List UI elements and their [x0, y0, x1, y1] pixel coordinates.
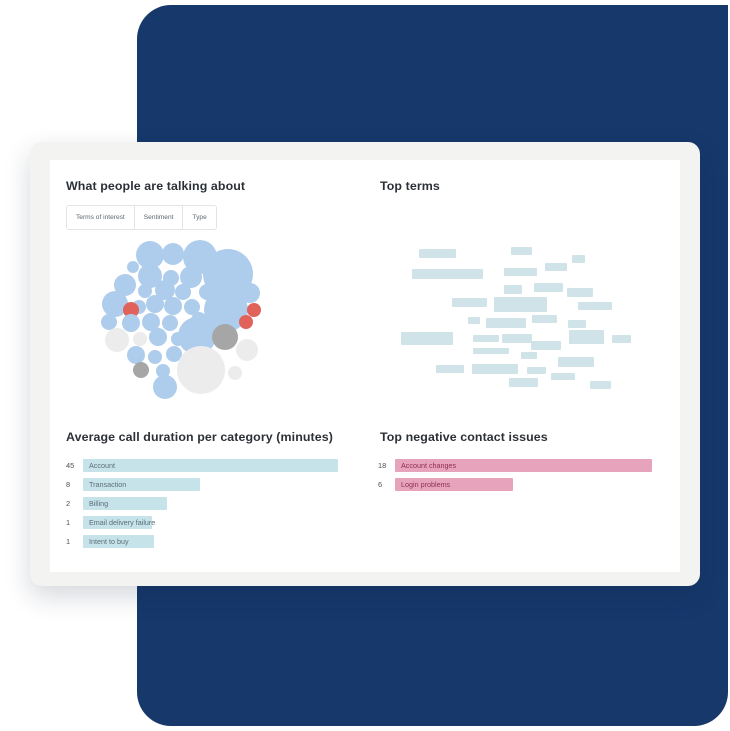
- bar-track: Intent to buy: [83, 535, 338, 548]
- bar-track: Account changes: [395, 459, 652, 472]
- bar-label: Transaction: [89, 478, 126, 491]
- term-block[interactable]: [509, 378, 538, 387]
- term-block[interactable]: [551, 373, 575, 380]
- bar-row: 18Account changes: [378, 459, 652, 472]
- tab-sentiment[interactable]: Sentiment: [135, 206, 184, 229]
- term-block[interactable]: [578, 302, 612, 310]
- bubble[interactable]: [212, 324, 238, 350]
- bubble-chart[interactable]: [95, 240, 275, 400]
- term-block[interactable]: [502, 334, 532, 343]
- term-block[interactable]: [612, 335, 631, 343]
- term-block[interactable]: [545, 263, 567, 271]
- term-block[interactable]: [494, 297, 547, 312]
- bar-value: 6: [378, 478, 395, 491]
- bubble[interactable]: [133, 362, 149, 378]
- term-block[interactable]: [412, 269, 483, 279]
- term-block[interactable]: [568, 320, 586, 328]
- bubble[interactable]: [105, 328, 129, 352]
- bar-row: 2Billing: [66, 497, 338, 510]
- bar-label: Billing: [89, 497, 108, 510]
- term-block[interactable]: [521, 352, 537, 359]
- term-block[interactable]: [572, 255, 585, 263]
- terms-filter-tabs[interactable]: Terms of interest Sentiment Type: [66, 205, 217, 230]
- term-block[interactable]: [436, 365, 464, 373]
- bar-fill: [83, 459, 338, 472]
- bar-value: 1: [66, 535, 83, 548]
- term-block[interactable]: [472, 364, 518, 374]
- bar-row: 8Transaction: [66, 478, 338, 491]
- term-block[interactable]: [486, 318, 526, 328]
- bubble[interactable]: [133, 332, 147, 346]
- bar-track: Login problems: [395, 478, 652, 491]
- bar-value: 18: [378, 459, 395, 472]
- bubble[interactable]: [164, 297, 182, 315]
- bar-track: Billing: [83, 497, 338, 510]
- bubble[interactable]: [239, 315, 253, 329]
- bar-track: Email delivery failure: [83, 516, 338, 529]
- term-block[interactable]: [527, 367, 546, 374]
- bar-row: 6Login problems: [378, 478, 652, 491]
- bar-label: Account: [89, 459, 115, 472]
- avg-duration-bar-chart: 45Account8Transaction2Billing1Email deli…: [66, 459, 338, 554]
- bar-row: 45Account: [66, 459, 338, 472]
- bar-label: Account changes: [401, 459, 456, 472]
- bar-track: Transaction: [83, 478, 338, 491]
- term-block[interactable]: [468, 317, 480, 324]
- bubble[interactable]: [228, 366, 242, 380]
- bar-value: 45: [66, 459, 83, 472]
- term-block[interactable]: [504, 285, 522, 294]
- bubble[interactable]: [149, 328, 167, 346]
- panel-title-avg-duration: Average call duration per category (minu…: [66, 430, 333, 444]
- bar-value: 8: [66, 478, 83, 491]
- bar-value: 2: [66, 497, 83, 510]
- screenshot-stage: What people are talking about Terms of i…: [0, 0, 730, 731]
- term-block[interactable]: [511, 247, 532, 255]
- bubble[interactable]: [162, 243, 184, 265]
- bar-row: 1Email delivery failure: [66, 516, 338, 529]
- tab-type[interactable]: Type: [183, 206, 215, 229]
- panel-title-top-terms: Top terms: [380, 179, 440, 193]
- term-block[interactable]: [452, 298, 487, 307]
- term-block[interactable]: [401, 332, 453, 345]
- tab-terms-of-interest[interactable]: Terms of interest: [67, 206, 135, 229]
- term-block[interactable]: [558, 357, 594, 367]
- bubble[interactable]: [127, 261, 139, 273]
- top-terms-wordcloud[interactable]: [390, 240, 640, 400]
- bar-label: Email delivery failure: [89, 516, 155, 529]
- bubble[interactable]: [122, 314, 140, 332]
- term-block[interactable]: [531, 341, 561, 350]
- bar-value: 1: [66, 516, 83, 529]
- term-block[interactable]: [504, 268, 537, 276]
- term-block[interactable]: [534, 283, 563, 292]
- bar-label: Intent to buy: [89, 535, 129, 548]
- term-block[interactable]: [419, 249, 456, 258]
- bubble[interactable]: [148, 350, 162, 364]
- bubble[interactable]: [236, 339, 258, 361]
- top-negative-bar-chart: 18Account changes6Login problems: [378, 459, 652, 497]
- bubble[interactable]: [177, 346, 225, 394]
- term-block[interactable]: [473, 335, 499, 342]
- bubble[interactable]: [162, 315, 178, 331]
- bubble[interactable]: [153, 375, 177, 399]
- panel-title-top-negative: Top negative contact issues: [380, 430, 548, 444]
- bar-track: Account: [83, 459, 338, 472]
- term-block[interactable]: [473, 348, 509, 354]
- bubble[interactable]: [146, 295, 164, 313]
- term-block[interactable]: [532, 315, 557, 323]
- term-block[interactable]: [569, 330, 604, 344]
- term-block[interactable]: [590, 381, 611, 389]
- panel-title-talking-about: What people are talking about: [66, 179, 245, 193]
- bar-row: 1Intent to buy: [66, 535, 338, 548]
- bar-label: Login problems: [401, 478, 450, 491]
- term-block[interactable]: [567, 288, 593, 297]
